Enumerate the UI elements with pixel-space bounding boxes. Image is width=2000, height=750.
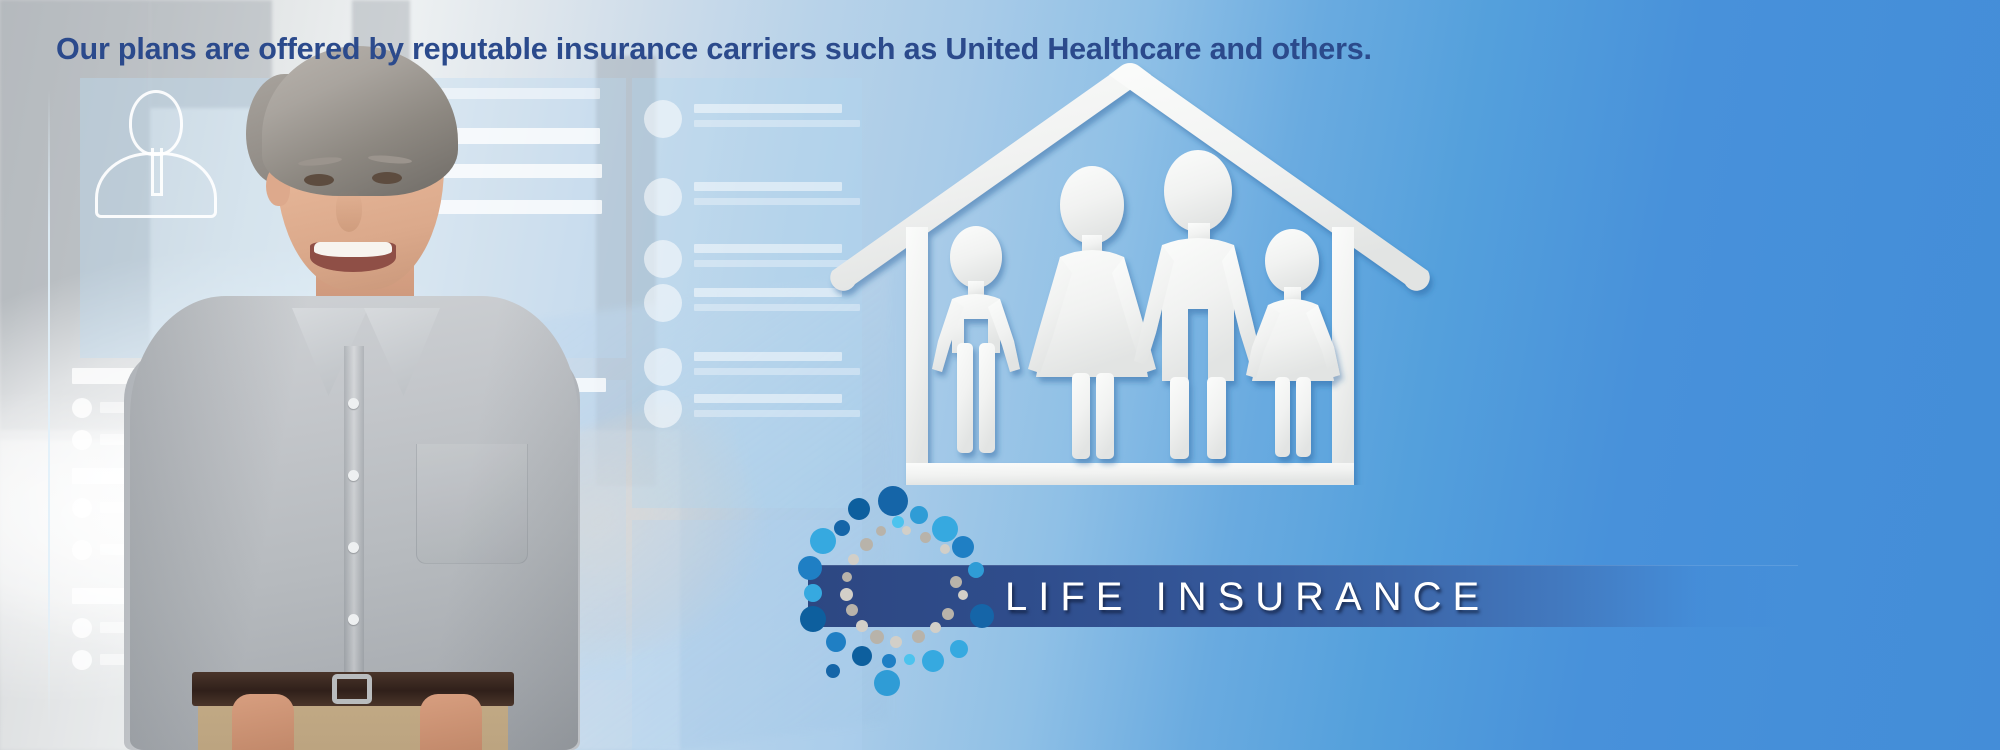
ghost-avatar-dot [72,650,92,670]
smiling-senior-man-portrait [120,46,580,750]
person-nose [336,190,362,232]
ghost-avatar-dot [72,498,92,518]
shirt-button [348,470,359,481]
ghost-avatar-dot [72,430,92,450]
ghost-avatar-dot [72,618,92,638]
boy-figure [932,226,1020,453]
ghost-avatar-dot [72,398,92,418]
ghost-avatar-dot [644,348,682,386]
person-hand-left [232,694,294,750]
ghost-avatar-dot [644,390,682,428]
ghost-avatar-dot [644,284,682,322]
paper-cut-house-with-family [820,55,1440,485]
belt-buckle [332,674,372,704]
ghost-avatar-dot [644,240,682,278]
shirt-button [348,542,359,553]
house-outline-shape [830,63,1429,485]
ghost-avatar-dot [72,540,92,560]
life-insurance-hero-banner: LIFE INSURANCE Our plans are offered by … [0,0,2000,750]
bg-vertical-line [48,90,50,730]
woman-figure [1028,166,1156,459]
man-figure [1134,150,1262,459]
shirt-button [348,398,359,409]
person-hand-right [420,694,482,750]
circular-dot-swirl-logo [790,480,1000,690]
shirt-button [348,614,359,625]
ghost-avatar-dot [644,100,682,138]
person-teeth [314,242,392,257]
girl-figure [1246,229,1340,457]
person-eye-right [372,172,402,184]
shirt-pocket [416,444,528,564]
person-hair [262,46,458,196]
ghost-avatar-dot [644,178,682,216]
person-eye-left [304,174,334,186]
page-title: Our plans are offered by reputable insur… [56,32,1456,67]
life-insurance-label: LIFE INSURANCE [1005,575,1490,620]
